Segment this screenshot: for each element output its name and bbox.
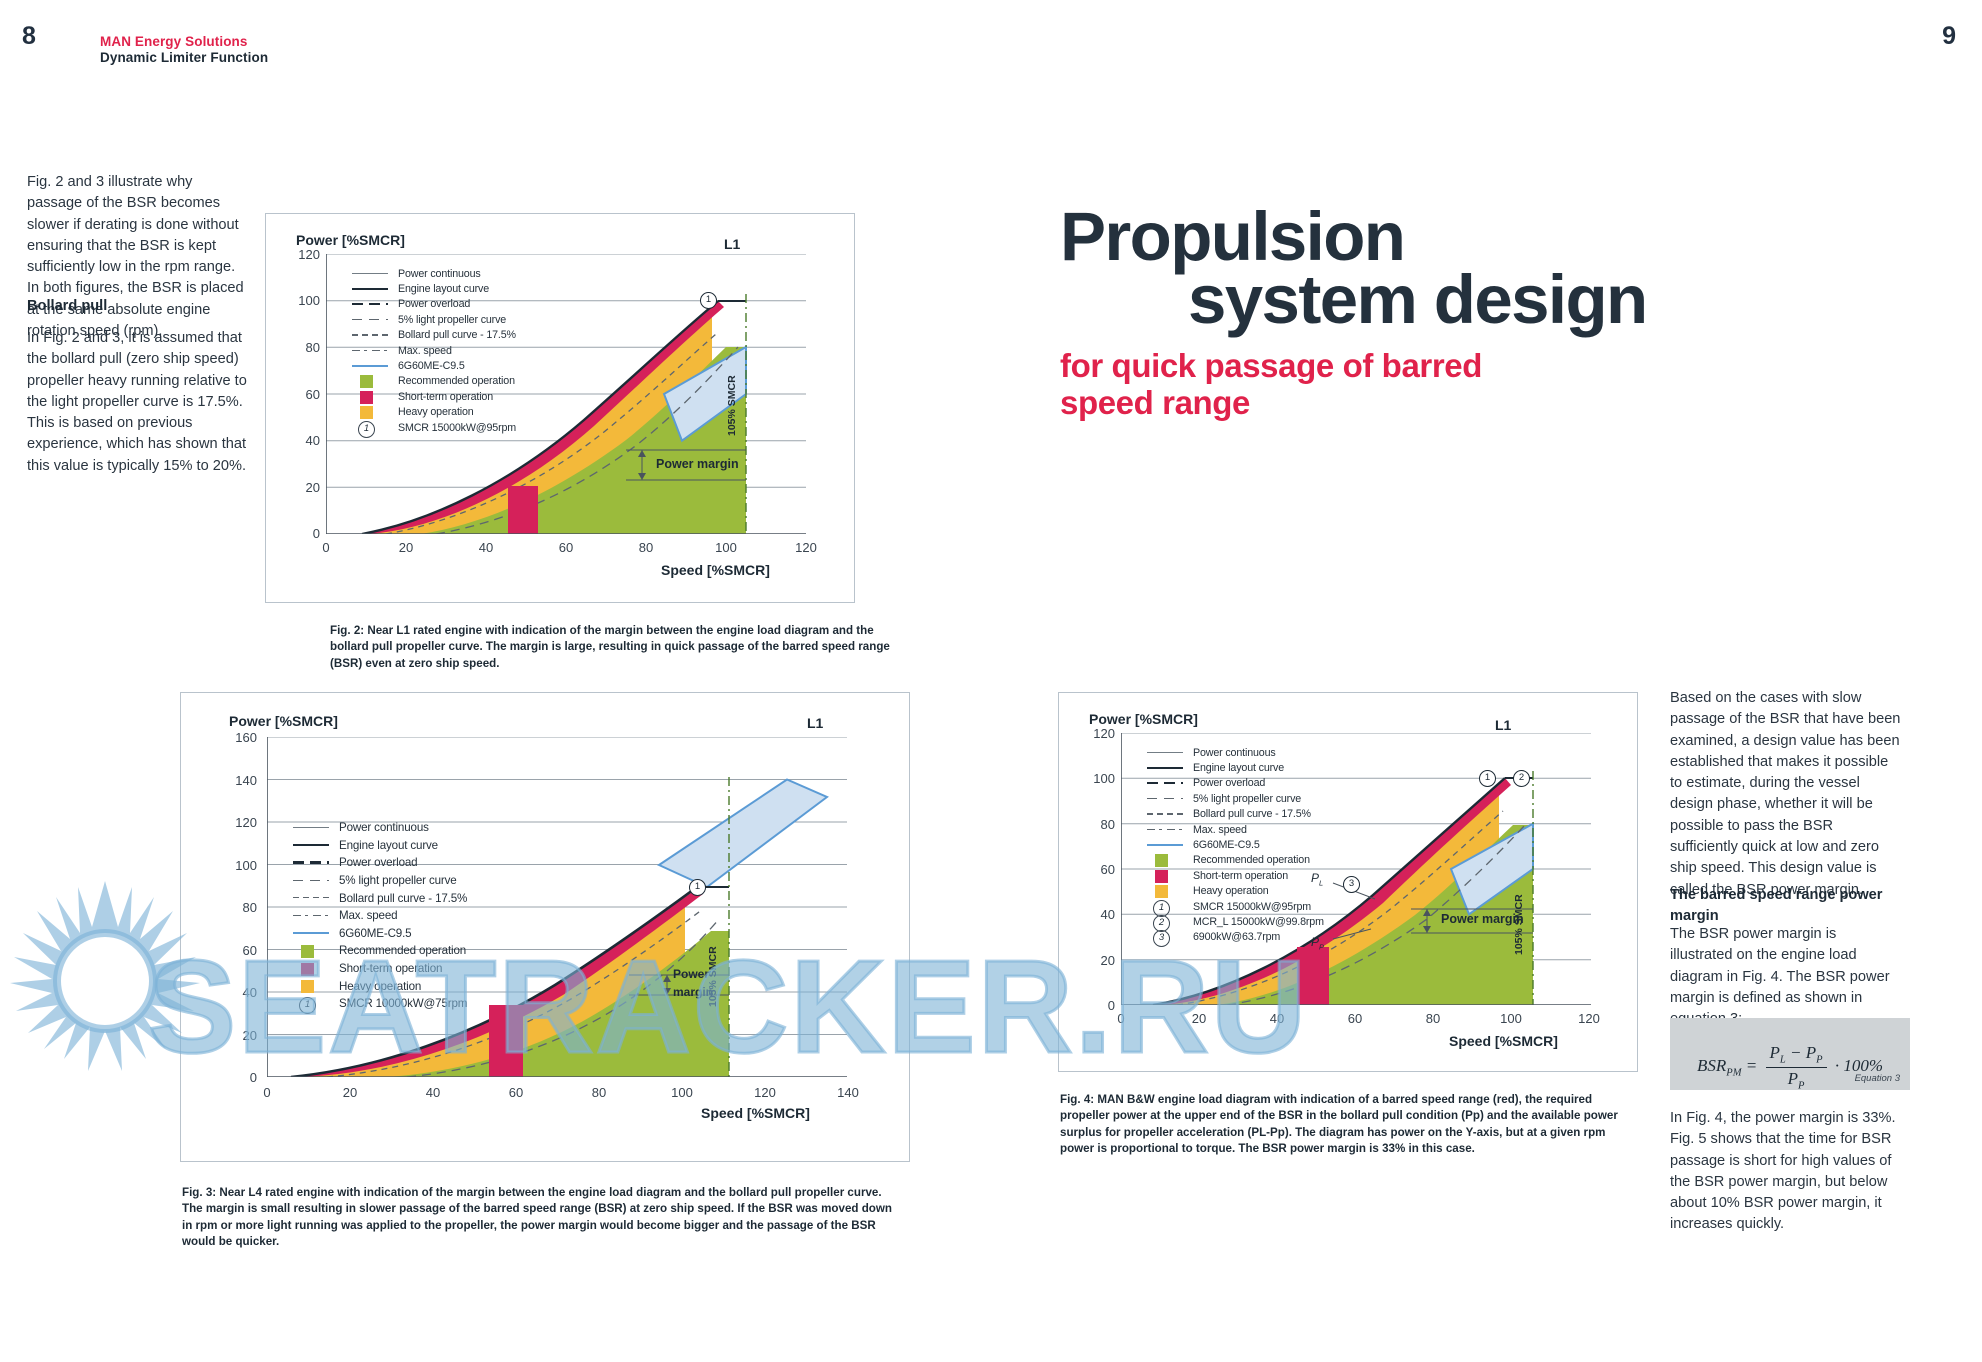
engine-layout-line-icon xyxy=(350,283,390,295)
point-1-number-icon: 1 xyxy=(1145,901,1185,913)
recommended-swatch-icon xyxy=(350,375,390,387)
legend-row-point-2: 2MCR_L 15000kW@99.8rpm xyxy=(1145,914,1324,929)
fig4-plot-area: 1 2 3 L1 105% SMCR Power margin PL PP Po… xyxy=(1121,733,1591,1005)
short-term-swatch-icon xyxy=(291,963,331,975)
headline-title: Propulsion system design xyxy=(1060,205,1820,332)
headline-subtitle: for quick passage of barred speed range xyxy=(1060,348,1820,422)
page-number-right: 9 xyxy=(1942,22,1956,51)
fig2-plot-area: 1 L1 105% SMCR Power margin Power contin… xyxy=(326,254,806,534)
fig3-ytick-140: 140 xyxy=(211,773,257,788)
legend-row-bollard-pull: Bollard pull curve - 17.5% xyxy=(350,328,516,343)
fig4-xtick-100: 100 xyxy=(1496,1011,1526,1026)
max-speed-dashdot-icon xyxy=(1145,824,1185,836)
running-header: MAN Energy Solutions Dynamic Limiter Fun… xyxy=(100,34,268,67)
fig3-xtick-60: 60 xyxy=(501,1085,531,1100)
legend-row-max-speed: Max. speed xyxy=(1145,822,1324,837)
legend-row-max-speed: Max. speed xyxy=(291,907,467,925)
bollard-pull-paragraph: In Fig. 2 and 3, it is assumed that the … xyxy=(27,328,249,477)
legend-row-short-term: Short-term operation xyxy=(291,960,467,978)
legend-row-heavy: Heavy operation xyxy=(291,977,467,995)
legend-row-power-continuous: Power continuous xyxy=(291,819,467,837)
fig2-xtick-100: 100 xyxy=(711,540,741,555)
engine-layout-line-icon xyxy=(1145,762,1185,774)
fig2-xtick-80: 80 xyxy=(631,540,661,555)
fig3-y-axis-title: Power [%SMCR] xyxy=(229,713,338,729)
fig2-xtick-40: 40 xyxy=(471,540,501,555)
legend-row-point-1: 1SMCR 15000kW@95rpm xyxy=(1145,899,1324,914)
fig2-ytick-20: 20 xyxy=(280,480,320,495)
legend-row-point-3: 36900kW@63.7rpm xyxy=(1145,930,1324,945)
fig4-xtick-120: 120 xyxy=(1574,1011,1604,1026)
bollard-pull-dash-icon xyxy=(350,329,390,341)
legend-row-bollard-pull: Bollard pull curve - 17.5% xyxy=(1145,807,1324,822)
legend-row-light-propeller: 5% light propeller curve xyxy=(1145,791,1324,806)
fig4-xtick-0: 0 xyxy=(1106,1011,1136,1026)
legend-row-engine-layout: Engine layout curve xyxy=(291,837,467,855)
legend-row-engine-layout: Engine layout curve xyxy=(350,281,516,296)
fig2-xtick-20: 20 xyxy=(391,540,421,555)
fig2-l1-label: L1 xyxy=(724,236,740,252)
fig4-point-3: 3 xyxy=(1343,876,1360,893)
document-title: Dynamic Limiter Function xyxy=(100,50,268,66)
subtitle-line-1: for quick passage of barred xyxy=(1060,347,1482,384)
fig3-xtick-40: 40 xyxy=(418,1085,448,1100)
fig4-ytick-80: 80 xyxy=(1073,817,1115,832)
power-continuous-line-icon xyxy=(350,268,390,280)
power-overload-dash-icon xyxy=(350,298,390,310)
heavy-swatch-icon xyxy=(1145,885,1185,897)
legend-row-recommended: Recommended operation xyxy=(1145,853,1324,868)
engine-layout-line-icon xyxy=(291,839,331,851)
fig3-power-margin-line2: margin xyxy=(673,985,713,999)
fig3-point-1: 1 xyxy=(689,879,706,896)
fig4-legend: Power continuous Engine layout curve Pow… xyxy=(1145,745,1324,945)
figure-3: Power [%SMCR] xyxy=(180,692,910,1162)
legend-row-engine-type: 6G60ME-C9.5 xyxy=(350,358,516,373)
fig2-xtick-60: 60 xyxy=(551,540,581,555)
bollard-pull-dash-icon xyxy=(1145,808,1185,820)
fig3-power-margin-line1: Power xyxy=(673,967,709,981)
power-overload-dash-icon xyxy=(1145,777,1185,789)
right-paragraph-3: In Fig. 4, the power margin is 33%. Fig.… xyxy=(1670,1108,1902,1236)
legend-row-recommended: Recommended operation xyxy=(291,942,467,960)
fig2-y-axis-title: Power [%SMCR] xyxy=(296,232,405,248)
legend-row-power-overload: Power overload xyxy=(350,297,516,312)
fig4-xtick-80: 80 xyxy=(1418,1011,1448,1026)
fig4-point-1: 1 xyxy=(1479,770,1496,787)
fig2-legend: Power continuous Engine layout curve Pow… xyxy=(350,266,516,435)
heavy-swatch-icon xyxy=(350,406,390,418)
point-3-number-icon: 3 xyxy=(1145,931,1185,943)
power-continuous-line-icon xyxy=(291,822,331,834)
fig2-ytick-60: 60 xyxy=(280,387,320,402)
fig4-xtick-60: 60 xyxy=(1340,1011,1370,1026)
fig3-xtick-120: 120 xyxy=(750,1085,780,1100)
fig4-xtick-20: 20 xyxy=(1184,1011,1214,1026)
legend-row-light-propeller: 5% light propeller curve xyxy=(350,312,516,327)
legend-row-engine-type: 6G60ME-C9.5 xyxy=(291,925,467,943)
fig3-xtick-100: 100 xyxy=(667,1085,697,1100)
engine-type-line-icon xyxy=(1145,839,1185,851)
legend-row-power-overload: Power overload xyxy=(1145,776,1324,791)
legend-row-short-term: Short-term operation xyxy=(1145,868,1324,883)
max-speed-dashdot-icon xyxy=(291,910,331,922)
light-propeller-dash-icon xyxy=(1145,793,1185,805)
smcr-number-icon: 1 xyxy=(291,998,331,1010)
fig4-x-axis-title: Speed [%SMCR] xyxy=(1449,1033,1558,1049)
fig4-ytick-120: 120 xyxy=(1073,726,1115,741)
fig4-xtick-40: 40 xyxy=(1262,1011,1292,1026)
fig4-caption: Fig. 4: MAN B&W engine load diagram with… xyxy=(1060,1092,1640,1158)
smcr-number-icon: 1 xyxy=(350,422,390,434)
fig3-xtick-20: 20 xyxy=(335,1085,365,1100)
fig4-l1-label: L1 xyxy=(1495,717,1511,733)
fig3-ytick-60: 60 xyxy=(211,943,257,958)
fig2-smcr-vline-label: 105% SMCR xyxy=(726,375,738,436)
legend-row-smcr-point: 1SMCR 15000kW@95rpm xyxy=(350,420,516,435)
subtitle-line-2: speed range xyxy=(1060,384,1250,421)
fig3-legend: Power continuous Engine layout curve Pow… xyxy=(291,819,467,1013)
fig3-l1-label: L1 xyxy=(807,715,823,731)
light-propeller-dash-icon xyxy=(291,875,331,887)
legend-row-engine-layout: Engine layout curve xyxy=(1145,760,1324,775)
fig4-point-2: 2 xyxy=(1513,770,1530,787)
fig4-ytick-40: 40 xyxy=(1073,907,1115,922)
fig3-xtick-140: 140 xyxy=(833,1085,863,1100)
bollard-pull-dash-icon xyxy=(291,892,331,904)
legend-row-power-overload: Power overload xyxy=(291,854,467,872)
equation-number: Equation 3 xyxy=(1855,1073,1900,1084)
engine-type-line-icon xyxy=(291,927,331,939)
point-2-number-icon: 2 xyxy=(1145,916,1185,928)
legend-row-light-propeller: 5% light propeller curve xyxy=(291,872,467,890)
bsr-power-margin-subhead: The barred speed range power margin xyxy=(1670,885,1902,928)
fig3-xtick-0: 0 xyxy=(252,1085,282,1100)
fig3-x-axis-title: Speed [%SMCR] xyxy=(701,1105,810,1121)
fig3-plot-area: 1 L1 105% SMCR Power margin Power contin… xyxy=(267,737,847,1077)
recommended-swatch-icon xyxy=(1145,854,1185,866)
fig2-ytick-80: 80 xyxy=(280,340,320,355)
fig3-ytick-0: 0 xyxy=(211,1070,257,1085)
headline-line-2: system design xyxy=(1060,268,1820,331)
fig2-caption: Fig. 2: Near L1 rated engine with indica… xyxy=(330,623,890,672)
fig2-ytick-120: 120 xyxy=(280,247,320,262)
fig3-ytick-160: 160 xyxy=(211,730,257,745)
legend-row-short-term: Short-term operation xyxy=(350,389,516,404)
legend-row-heavy: Heavy operation xyxy=(350,405,516,420)
short-term-swatch-icon xyxy=(350,391,390,403)
short-term-swatch-icon xyxy=(1145,870,1185,882)
equation-fraction: PL − PP PP xyxy=(1766,1042,1827,1093)
page-headline: Propulsion system design for quick passa… xyxy=(1060,205,1820,422)
fig3-ytick-40: 40 xyxy=(211,985,257,1000)
legend-row-power-continuous: Power continuous xyxy=(350,266,516,281)
fig2-xtick-120: 120 xyxy=(791,540,821,555)
fig2-ytick-0: 0 xyxy=(280,526,320,541)
fig3-ytick-80: 80 xyxy=(211,900,257,915)
legend-row-smcr-point: 1SMCR 10000kW@75rpm xyxy=(291,995,467,1013)
bollard-pull-subhead: Bollard pull xyxy=(27,296,249,317)
fig4-y-axis-title: Power [%SMCR] xyxy=(1089,711,1198,727)
fig2-xtick-0: 0 xyxy=(311,540,341,555)
page-number-left: 8 xyxy=(22,22,36,51)
fig3-caption: Fig. 3: Near L4 rated engine with indica… xyxy=(182,1185,902,1251)
fig2-ytick-40: 40 xyxy=(280,433,320,448)
fig4-ytick-60: 60 xyxy=(1073,862,1115,877)
legend-row-max-speed: Max. speed xyxy=(350,343,516,358)
fig2-x-axis-title: Speed [%SMCR] xyxy=(661,562,770,578)
fig3-ytick-100: 100 xyxy=(211,858,257,873)
fig2-ytick-100: 100 xyxy=(280,293,320,308)
engine-type-line-icon xyxy=(350,360,390,372)
watermark-sun-icon xyxy=(10,881,200,1081)
max-speed-dashdot-icon xyxy=(350,345,390,357)
right-paragraph-1: Based on the cases with slow passage of … xyxy=(1670,688,1902,901)
fig4-power-margin-label: Power margin xyxy=(1441,912,1524,926)
legend-row-engine-type: 6G60ME-C9.5 xyxy=(1145,837,1324,852)
power-continuous-line-icon xyxy=(1145,747,1185,759)
legend-row-bollard-pull: Bollard pull curve - 17.5% xyxy=(291,889,467,907)
power-overload-dash-icon xyxy=(291,857,331,869)
fig3-ytick-20: 20 xyxy=(211,1028,257,1043)
fig4-ytick-100: 100 xyxy=(1073,771,1115,786)
fig3-ytick-120: 120 xyxy=(211,815,257,830)
equation-content: BSRPM = PL − PP PP · 100% xyxy=(1670,1042,1910,1093)
fig2-power-margin-label: Power margin xyxy=(656,457,739,471)
legend-row-recommended: Recommended operation xyxy=(350,374,516,389)
heavy-swatch-icon xyxy=(291,980,331,992)
figure-4: Power [%SMCR] xyxy=(1058,692,1638,1072)
right-paragraph-2: The BSR power margin is illustrated on t… xyxy=(1670,924,1902,1030)
fig2-point-1: 1 xyxy=(700,292,717,309)
legend-row-power-continuous: Power continuous xyxy=(1145,745,1324,760)
equation-box: BSRPM = PL − PP PP · 100% Equation 3 xyxy=(1670,1018,1910,1090)
brand-name: MAN Energy Solutions xyxy=(100,34,268,50)
fig3-xtick-80: 80 xyxy=(584,1085,614,1100)
light-propeller-dash-icon xyxy=(350,314,390,326)
fig4-ytick-20: 20 xyxy=(1073,953,1115,968)
legend-row-heavy: Heavy operation xyxy=(1145,884,1324,899)
recommended-swatch-icon xyxy=(291,945,331,957)
figure-2: Power [%SMCR] xyxy=(265,213,855,603)
